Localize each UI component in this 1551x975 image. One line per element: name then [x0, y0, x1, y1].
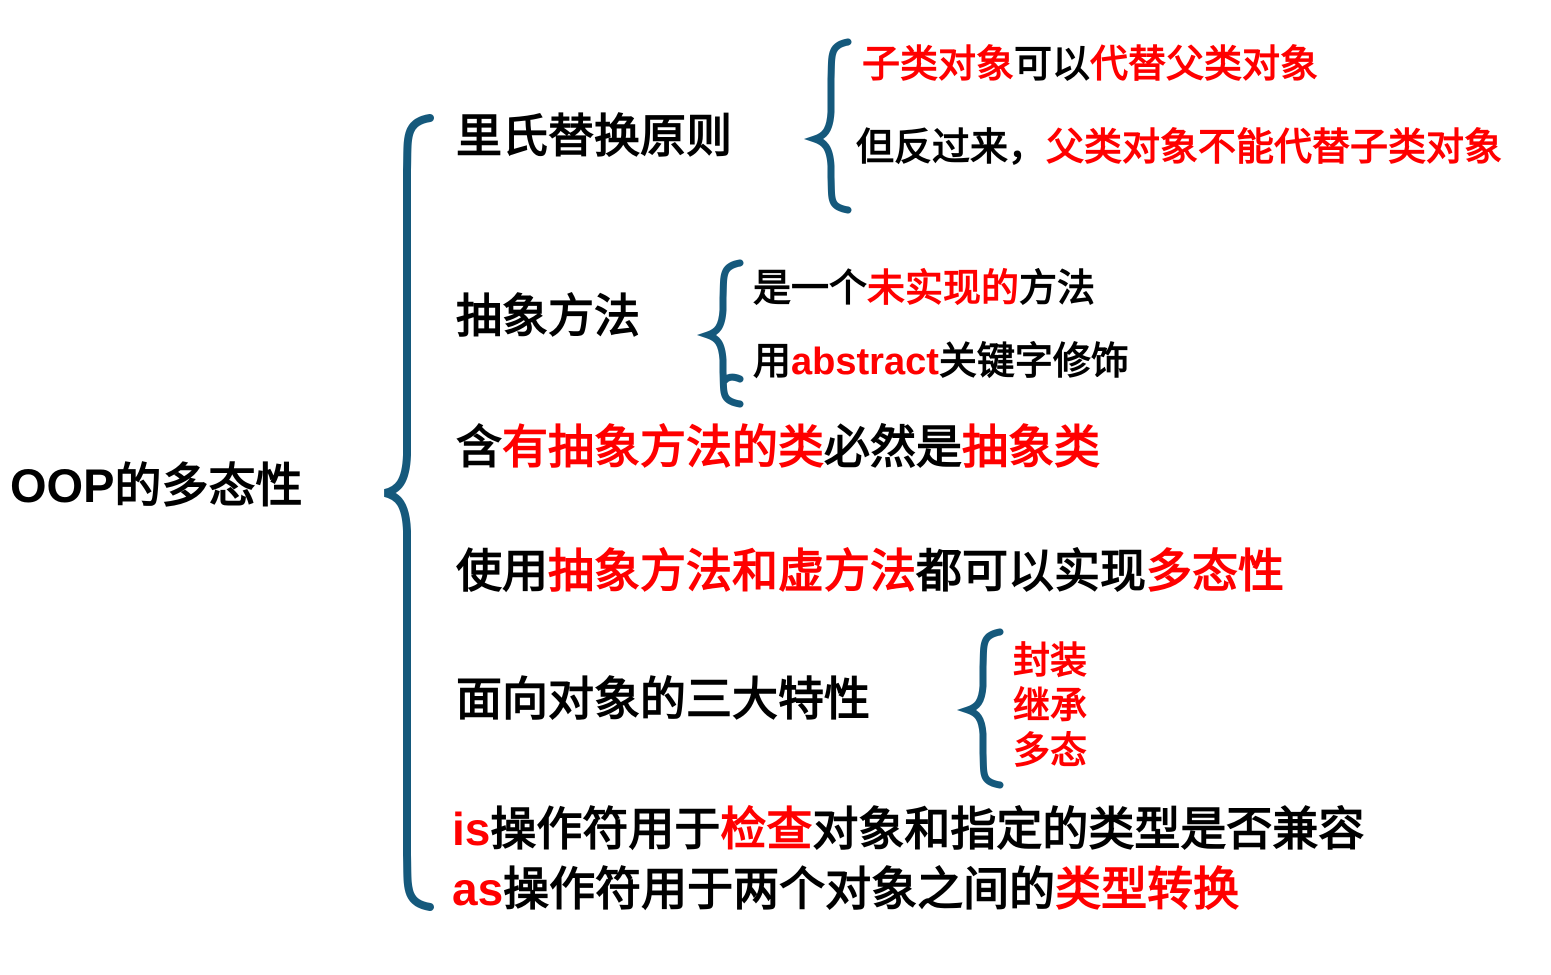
segment-text: 抽象类 — [962, 421, 1100, 473]
root-label: OOP的多态性 — [10, 462, 302, 509]
segment-text: 多态性 — [1146, 545, 1284, 597]
sub-item-group-three-oop-features: 封装 继承 多态 — [1013, 638, 1087, 773]
segment-text: 含 — [456, 421, 502, 473]
branch-label-as-operator: as操作符用于两个对象之间的类型转换 — [452, 866, 1239, 912]
segment-text: 未实现的 — [867, 268, 1019, 310]
segment-text: as — [452, 863, 503, 915]
sub-item-child-replaces-parent: 子类对象可以代替父类对象 — [862, 46, 1318, 84]
segment-text: 但反过来， — [856, 127, 1046, 169]
segment-text: 使用 — [456, 545, 548, 597]
branch-label-three-oop-features: 面向对象的三大特性 — [456, 676, 870, 722]
branch-label-liskov-substitution-principle: 里氏替换原则 — [456, 113, 732, 159]
segment-text: 是一个 — [753, 268, 867, 310]
segment-text: 代替父类对象 — [1090, 44, 1318, 86]
sub-item-unimplemented-method: 是一个未实现的方法 — [753, 270, 1095, 308]
sub-item-inheritance: 继承 — [1013, 683, 1087, 728]
segment-text: is — [452, 803, 490, 855]
segment-text: 子类对象 — [862, 44, 1014, 86]
branch-label-is-operator: is操作符用于检查对象和指定的类型是否兼容 — [452, 806, 1364, 852]
root-brace-icon — [385, 118, 430, 907]
branch-label-achieve-polymorphism: 使用抽象方法和虚方法都可以实现多态性 — [456, 548, 1284, 594]
segment-text: 操作符用于 — [490, 803, 720, 855]
segment-text: 都可以实现 — [916, 545, 1146, 597]
mindmap-canvas: OOP的多态性 里氏替换原则 子类对象可以代替父类对象 但反过来，父类对象不能代… — [0, 0, 1551, 975]
segment-text: 关键字修饰 — [939, 341, 1129, 383]
segment-text: 可以 — [1014, 44, 1090, 86]
segment-text: 用 — [753, 341, 791, 383]
branch-label-abstract-method: 抽象方法 — [456, 293, 640, 339]
segment-text: 操作符用于两个对象之间的 — [503, 863, 1055, 915]
segment-text: 类型转换 — [1055, 863, 1239, 915]
sub-item-encapsulation: 封装 — [1013, 638, 1087, 683]
branch-label-class-with-abstract-method: 含有抽象方法的类必然是抽象类 — [456, 424, 1100, 470]
sub-item-parent-cannot-replace-child: 但反过来，父类对象不能代替子类对象 — [856, 126, 1546, 171]
three-features-brace-icon — [968, 632, 1000, 785]
abstract-method-brace-icon — [708, 263, 740, 404]
segment-text: 父类对象不能代替子类对象 — [1046, 127, 1502, 169]
lsp-brace-icon — [815, 42, 848, 210]
segment-text: 必然是 — [824, 421, 962, 473]
segment-text: 检查 — [720, 803, 812, 855]
sub-item-polymorphism: 多态 — [1013, 728, 1087, 773]
sub-item-abstract-keyword: 用abstract关键字修饰 — [753, 343, 1129, 381]
segment-text: abstract — [791, 341, 939, 383]
segment-text: 方法 — [1019, 268, 1095, 310]
segment-text: 有抽象方法的类 — [502, 421, 824, 473]
segment-text: 抽象方法和虚方法 — [548, 545, 916, 597]
segment-text: 对象和指定的类型是否兼容 — [812, 803, 1364, 855]
